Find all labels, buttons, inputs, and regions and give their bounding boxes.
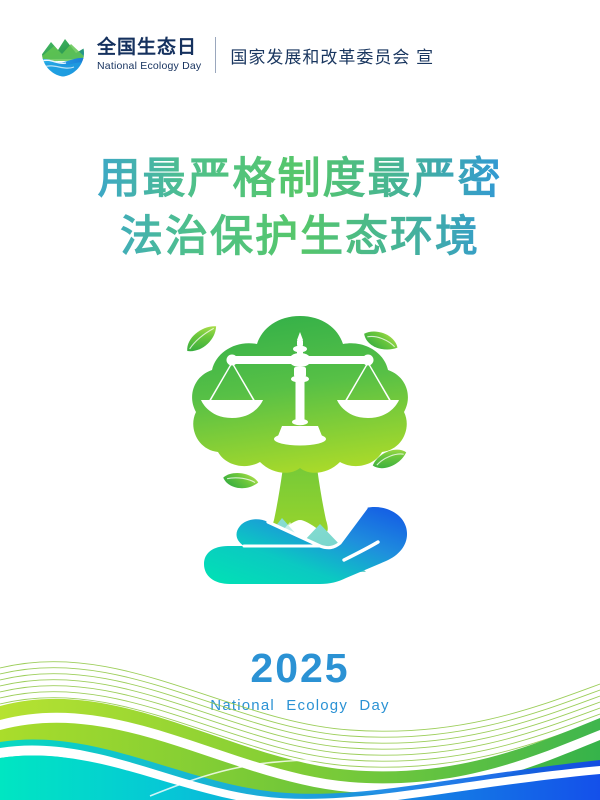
floating-leaf-left-lower: [222, 468, 260, 493]
tree-scales-hand-illustration: [170, 310, 430, 600]
title-line-2: 法治保护生态环境: [0, 208, 600, 266]
emblem-wordmark: 全国生态日 National Ecology Day: [97, 38, 201, 73]
organization-label: 国家发展和改革委员会 宣: [230, 43, 434, 68]
header-divider: [215, 37, 216, 73]
title-line-1: 用最严格制度最严密: [0, 150, 600, 208]
emblem-title-en: National Ecology Day: [97, 60, 201, 73]
emblem-title-cn: 全国生态日: [97, 38, 201, 58]
floating-leaf-left-upper: [182, 324, 222, 354]
bottom-wave-decoration: [0, 610, 600, 800]
poster-canvas: 全国生态日 National Ecology Day 国家发展和改革委员会 宣 …: [0, 0, 600, 800]
poster-title: 用最严格制度最严密 法治保护生态环境: [0, 150, 600, 266]
ecology-day-emblem: [38, 31, 88, 79]
poster-header: 全国生态日 National Ecology Day 国家发展和改革委员会 宣: [38, 30, 434, 80]
